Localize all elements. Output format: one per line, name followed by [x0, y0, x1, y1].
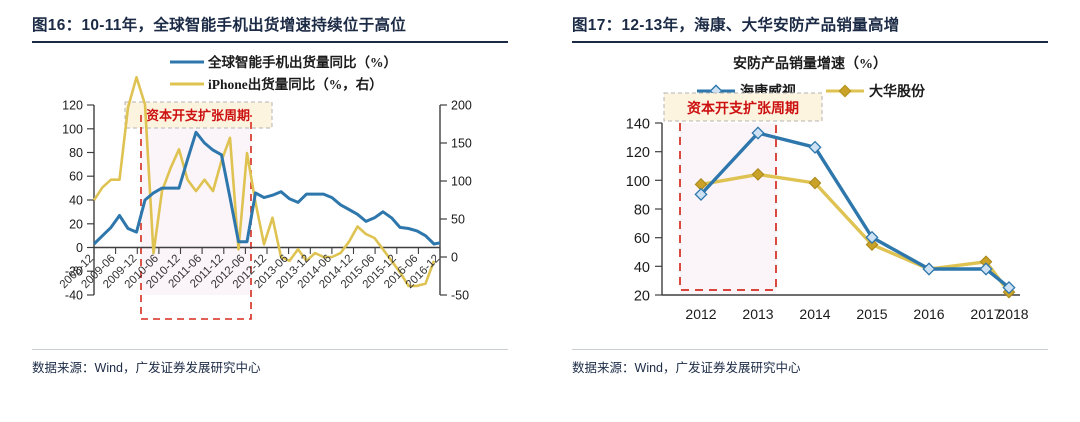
figure-17-source: 数据来源：Wind，广发证券发展研究中心 [572, 357, 1048, 376]
xtick17-2013: 2013 [742, 306, 773, 322]
source-wind-17: Wind [635, 361, 663, 375]
xtick17-2018: 2018 [997, 306, 1028, 322]
right-y-ticks [440, 105, 447, 295]
figure-17-chart-title: 安防产品销量增速（%） [733, 55, 887, 72]
figure-17-title: 图17：12-13年，海康、大华安防产品销量高增 [572, 14, 1048, 37]
figure-17-source-rule [572, 349, 1048, 350]
figure-17-panel: 图17：12-13年，海康、大华安防产品销量高增 安防产品销量增速（%） 海康威… [540, 0, 1080, 422]
ytick-40: 40 [69, 194, 83, 208]
figure-16-source: 数据来源：Wind，广发证券发展研究中心 [32, 357, 508, 376]
xtick17-2016: 2016 [913, 306, 944, 322]
ytick17-40: 40 [634, 260, 650, 276]
y2tick-150: 150 [451, 137, 472, 151]
ytick17-140: 140 [626, 117, 650, 133]
figure-16-svg: 全球智能手机出货量同比（%） iPhone出货量同比（%，右） 资本开支扩张周期 [32, 43, 508, 343]
highlight-band-fill-17 [680, 123, 776, 295]
figure-16-panel: 图16：10-11年，全球智能手机出货增速持续位于高位 全球智能手机出货量同比（… [0, 0, 540, 422]
source-wind-16: Wind [95, 361, 123, 375]
ytick-20: 20 [69, 218, 83, 232]
y2tick-0: 0 [451, 251, 458, 265]
source-prefix-17: 数据来源： [572, 361, 635, 375]
xtick17-2014: 2014 [799, 306, 830, 322]
source-prefix-16: 数据来源： [32, 361, 95, 375]
source-suffix-16: ，广发证券发展研究中心 [123, 361, 261, 375]
xtick17-2012: 2012 [685, 306, 716, 322]
ytick17-60: 60 [634, 231, 650, 247]
annotation-capex-cycle-17: 资本开支扩张周期 [664, 93, 822, 121]
ytick-n40: -40 [65, 289, 83, 303]
figure-16-chart: 全球智能手机出货量同比（%） iPhone出货量同比（%，右） 资本开支扩张周期 [32, 43, 508, 343]
figure-16-source-rule [32, 349, 508, 350]
ytick17-80: 80 [634, 203, 650, 219]
figure-17-svg: 安防产品销量增速（%） 海康威视 大华股份 [572, 43, 1048, 343]
y2tick-200: 200 [451, 99, 472, 113]
xtick17-2015: 2015 [856, 306, 887, 322]
legend-label-iphone: iPhone出货量同比（%，右） [208, 76, 383, 92]
figure-16-title: 图16：10-11年，全球智能手机出货增速持续位于高位 [32, 14, 508, 37]
annotation-label: 资本开支扩张周期 [146, 108, 250, 123]
source-suffix-17: ，广发证券发展研究中心 [663, 361, 801, 375]
legend-marker-dahua [839, 86, 850, 97]
legend-label-smartphone: 全球智能手机出货量同比（%） [207, 54, 397, 70]
ytick17-20: 20 [634, 289, 650, 305]
figure-17-y-tick-labels: 140 120 100 80 60 40 20 [626, 117, 650, 305]
y2tick-n50: -50 [451, 289, 469, 303]
ytick17-100: 100 [626, 174, 650, 190]
figure-17-chart: 安防产品销量增速（%） 海康威视 大华股份 [572, 43, 1048, 343]
annotation-label-17: 资本开支扩张周期 [687, 100, 799, 117]
legend-label-dahua: 大华股份 [869, 83, 926, 100]
ytick-60: 60 [69, 170, 83, 184]
ytick17-120: 120 [626, 145, 650, 161]
ytick-80: 80 [69, 146, 83, 160]
ytick-120: 120 [62, 99, 83, 113]
figure-17-y-ticks [655, 123, 662, 295]
ytick-0: 0 [76, 241, 83, 255]
y2tick-100: 100 [451, 175, 472, 189]
ytick-100: 100 [62, 123, 83, 137]
figure-16-legend: 全球智能手机出货量同比（%） iPhone出货量同比（%，右） [170, 54, 397, 92]
figure-17-x-tick-labels: 2012 2013 2014 2015 2016 2017 2018 [685, 306, 1028, 322]
figures-page: 图16：10-11年，全球智能手机出货增速持续位于高位 全球智能手机出货量同比（… [0, 0, 1080, 422]
right-y-tick-labels: 200 150 100 50 0 -50 [451, 99, 472, 303]
y2tick-50: 50 [451, 213, 465, 227]
